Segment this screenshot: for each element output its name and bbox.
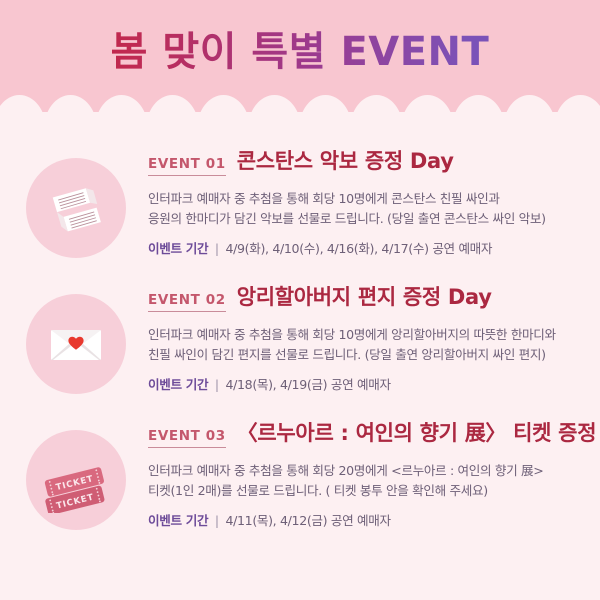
description-line: 티켓(1인 2매)를 선물로 드립니다. ( 티켓 봉투 안을 확인해 주세요) [148, 481, 600, 501]
event-text-block: EVENT 02 앙리할아버지 편지 증정 Day 인터파크 예매자 중 추첨을… [126, 286, 578, 393]
event-heading: EVENT 02 앙리할아버지 편지 증정 Day [148, 286, 578, 312]
page-title: 봄 맞이 특별 EVENT [0, 0, 600, 96]
event-description: 인터파크 예매자 중 추첨을 통해 회당 10명에게 앙리할아버지의 따뜻한 한… [148, 325, 578, 366]
period-value: 4/11(목), 4/12(금) 공연 예매자 [225, 513, 390, 528]
description-line: 친필 싸인이 담긴 편지를 선물로 드립니다. (당일 출연 앙리할아버지 싸인… [148, 345, 578, 365]
event-period: 이벤트 기간 | 4/11(목), 4/12(금) 공연 예매자 [148, 510, 600, 529]
event-list: EVENT 01 콘스탄스 악보 증정 Day 인터파크 예매자 중 추첨을 통… [0, 112, 600, 530]
event-text-block: EVENT 03 〈르누아르 : 여인의 향기 展〉 티켓 증정 Day 인터파… [126, 422, 600, 529]
description-line: 인터파크 예매자 중 추첨을 통해 회당 20명에게 <르누아르 : 여인의 향… [148, 461, 600, 481]
event-title: 〈르누아르 : 여인의 향기 展〉 티켓 증정 Day [237, 422, 600, 445]
love-letter-icon [26, 294, 126, 394]
period-separator: | [215, 377, 219, 392]
event-period: 이벤트 기간 | 4/9(화), 4/10(수), 4/16(화), 4/17(… [148, 238, 578, 257]
event-poster: 봄 맞이 특별 EVENT [0, 0, 600, 600]
event-text-block: EVENT 01 콘스탄스 악보 증정 Day 인터파크 예매자 중 추첨을 통… [126, 150, 578, 257]
list-item: EVENT 02 앙리할아버지 편지 증정 Day 인터파크 예매자 중 추첨을… [0, 286, 600, 394]
header-band: 봄 맞이 특별 EVENT [0, 0, 600, 112]
event-description: 인터파크 예매자 중 추첨을 통해 회당 10명에게 콘스탄스 친필 싸인과 응… [148, 189, 578, 230]
sheet-music-icon [26, 158, 126, 258]
list-item: TICKET TICKET [0, 422, 600, 530]
period-value: 4/9(화), 4/10(수), 4/16(화), 4/17(수) 공연 예매자 [225, 241, 492, 256]
event-period: 이벤트 기간 | 4/18(목), 4/19(금) 공연 예매자 [148, 374, 578, 393]
tickets-icon: TICKET TICKET [26, 430, 126, 530]
event-heading: EVENT 03 〈르누아르 : 여인의 향기 展〉 티켓 증정 Day [148, 422, 600, 448]
period-label: 이벤트 기간 [148, 377, 208, 392]
event-tag: EVENT 01 [148, 158, 226, 176]
event-heading: EVENT 01 콘스탄스 악보 증정 Day [148, 150, 578, 176]
period-separator: | [215, 241, 219, 256]
event-tag: EVENT 03 [148, 430, 226, 448]
period-label: 이벤트 기간 [148, 513, 208, 528]
description-line: 응원의 한마디가 담긴 악보를 선물로 드립니다. (당일 출연 콘스탄스 싸인… [148, 209, 578, 229]
event-tag: EVENT 02 [148, 294, 226, 312]
event-description: 인터파크 예매자 중 추첨을 통해 회당 20명에게 <르누아르 : 여인의 향… [148, 461, 600, 502]
list-item: EVENT 01 콘스탄스 악보 증정 Day 인터파크 예매자 중 추첨을 통… [0, 150, 600, 258]
period-value: 4/18(목), 4/19(금) 공연 예매자 [225, 377, 390, 392]
description-line: 인터파크 예매자 중 추첨을 통해 회당 10명에게 콘스탄스 친필 싸인과 [148, 189, 578, 209]
event-title: 앙리할아버지 편지 증정 Day [237, 286, 492, 309]
description-line: 인터파크 예매자 중 추첨을 통해 회당 10명에게 앙리할아버지의 따뜻한 한… [148, 325, 578, 345]
event-title: 콘스탄스 악보 증정 Day [237, 150, 454, 173]
period-separator: | [215, 513, 219, 528]
period-label: 이벤트 기간 [148, 241, 208, 256]
